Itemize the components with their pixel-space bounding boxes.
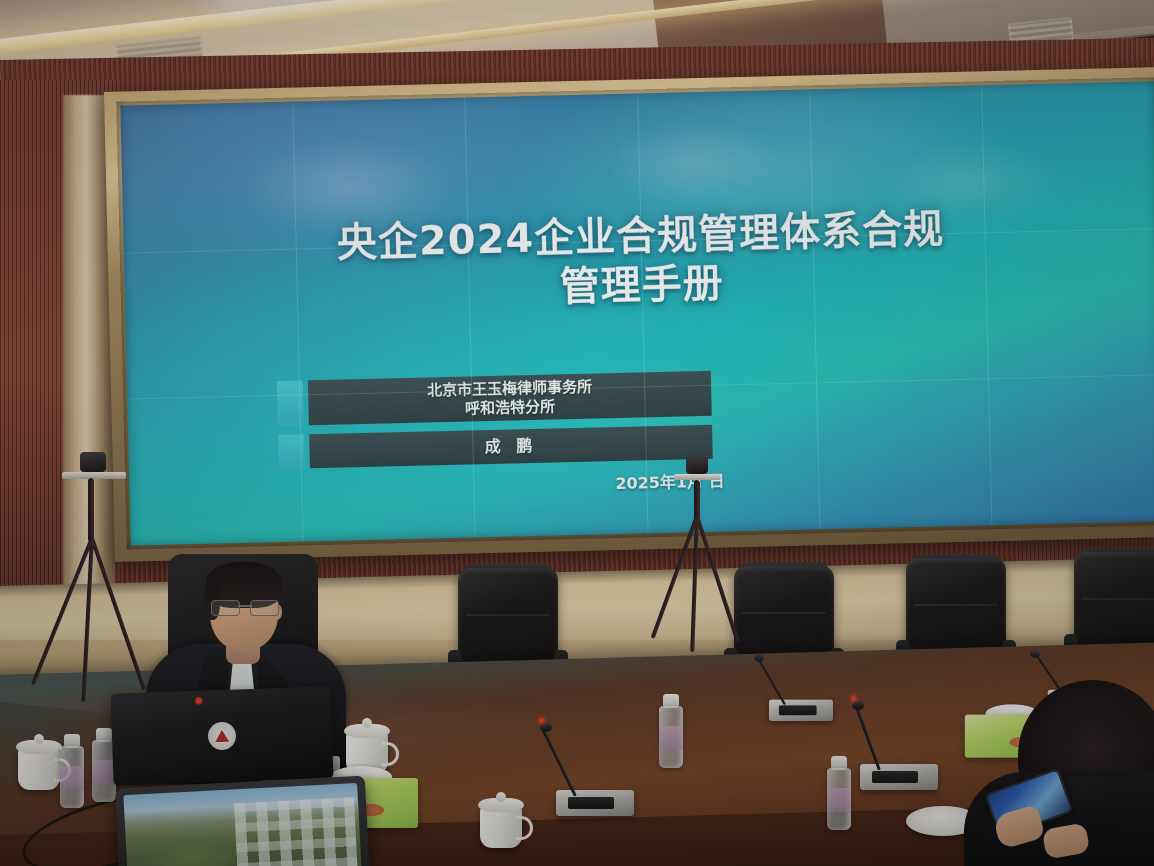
water-bottle-5[interactable] — [827, 754, 851, 830]
mic-control-panel[interactable] — [872, 771, 918, 783]
organization-row: 北京市王玉梅律师事务所 呼和浩特分所 — [277, 371, 712, 426]
laptop-bezel — [115, 776, 371, 866]
foreground-laptop[interactable] — [115, 776, 371, 866]
conference-room-scene: 央企2024企业合规管理体系合规 管理手册 北京市王玉梅律师事务所 呼和浩特分所… — [0, 0, 1154, 866]
video-wall-screen[interactable]: 央企2024企业合规管理体系合规 管理手册 北京市王玉梅律师事务所 呼和浩特分所… — [120, 81, 1154, 545]
cup-lid-knob — [34, 734, 44, 744]
chair-back — [1074, 552, 1154, 656]
camera-tripod-left — [40, 452, 150, 702]
attendee-person — [944, 680, 1154, 866]
tripod-plate-left — [62, 472, 126, 479]
mic-head-icon — [1030, 651, 1040, 658]
bottle-label — [60, 766, 84, 790]
accent-tab-icon — [277, 381, 304, 426]
tripod-column-left — [88, 478, 94, 542]
bottle-label — [827, 788, 851, 812]
mic-head-icon — [754, 655, 764, 662]
tripod-leg-center-1 — [695, 515, 740, 642]
conference-microphone-2[interactable] — [556, 782, 634, 816]
presenter-name: 成 鹏 — [309, 425, 713, 468]
slide-title-line2: 管理手册 — [186, 250, 1097, 320]
chair-back — [458, 568, 558, 672]
glasses-lens-left — [211, 600, 240, 616]
laptop-desktop-icons — [234, 797, 358, 866]
video-wall-frame: 央企2024企业合规管理体系合规 管理手册 北京市王玉梅律师事务所 呼和浩特分所… — [104, 67, 1154, 562]
accent-tab-icon-2 — [278, 434, 305, 468]
cup-lid-knob — [362, 718, 372, 728]
presenter-laptop[interactable] — [110, 686, 333, 786]
mic-control-panel[interactable] — [568, 797, 614, 809]
glasses-icon — [210, 600, 280, 614]
water-bottle-1[interactable] — [60, 732, 84, 808]
cup-lid-knob — [496, 792, 506, 802]
mic-active-light — [538, 717, 545, 724]
mic-head-icon — [540, 723, 552, 732]
conference-microphone-4[interactable] — [769, 693, 833, 721]
camera-head-center — [686, 456, 708, 474]
mic-active-light — [850, 695, 857, 702]
water-bottle-4[interactable] — [659, 692, 683, 768]
mic-head-icon — [852, 701, 864, 710]
organization-box: 北京市王玉梅律师事务所 呼和浩特分所 — [308, 371, 712, 425]
camera-head-left — [80, 452, 106, 472]
presenter-row: 成 鹏 — [278, 425, 713, 469]
teacup-1[interactable] — [16, 734, 62, 790]
laptop-screen[interactable] — [123, 783, 362, 866]
teacup-3[interactable] — [478, 792, 524, 848]
slide-credits: 北京市王玉梅律师事务所 呼和浩特分所 成 鹏 — [277, 371, 713, 477]
tripod-leg-left-1 — [90, 537, 146, 690]
presentation-slide: 央企2024企业合规管理体系合规 管理手册 北京市王玉梅律师事务所 呼和浩特分所… — [120, 81, 1154, 545]
camera-tripod-center — [660, 456, 750, 656]
tripod-column-center — [694, 480, 700, 520]
conference-microphone-3[interactable] — [860, 756, 938, 790]
mic-control-panel[interactable] — [779, 705, 817, 715]
slide-title: 央企2024企业合规管理体系合规 管理手册 — [185, 201, 1097, 320]
bottle-label — [659, 726, 683, 750]
glasses-lens-right — [250, 600, 279, 616]
